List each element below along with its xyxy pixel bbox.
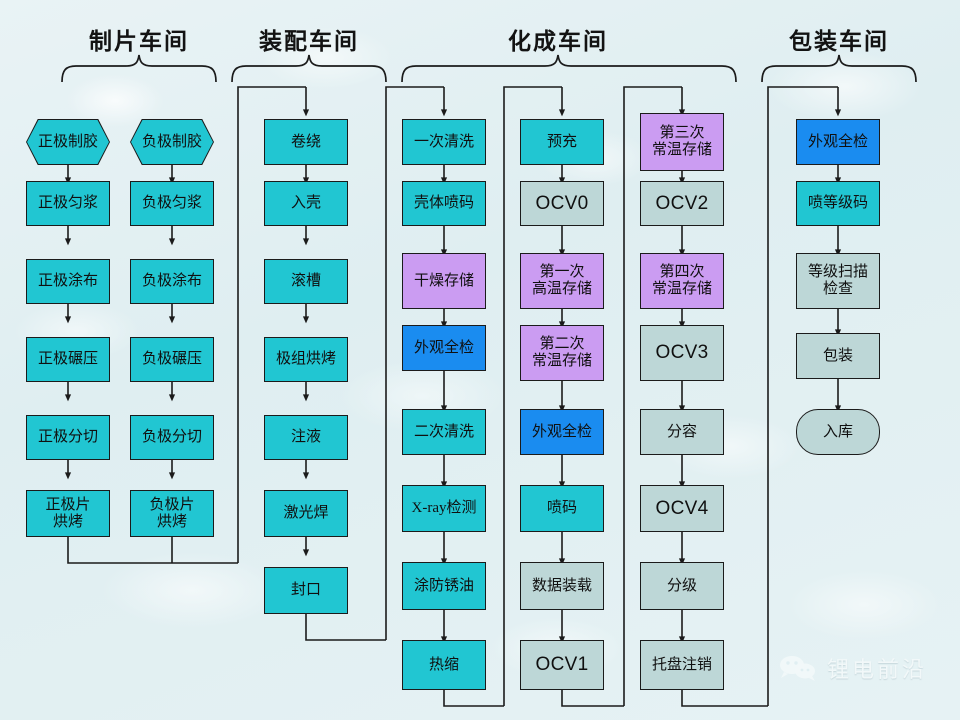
node-tray-cancellation[interactable]: 托盘注销 — [640, 640, 724, 690]
node-label: OCV2 — [656, 193, 709, 214]
node-label: OCV3 — [656, 342, 709, 363]
node-positive-sheet-baking[interactable]: 正极片 烘烤 — [26, 490, 110, 537]
node-second-room-temp-storage[interactable]: 第二次 常温存储 — [520, 325, 604, 381]
node-electrolyte-filling[interactable]: 注液 — [264, 415, 348, 460]
node-label: 分级 — [667, 578, 697, 595]
node-label: 负极制胶 — [142, 134, 202, 151]
node-label: 卷绕 — [291, 134, 321, 151]
node-appearance-inspection-cleaning[interactable]: 外观全检 — [402, 325, 486, 371]
node-label: 壳体喷码 — [414, 195, 474, 212]
node-label: 一次清洗 — [414, 134, 474, 151]
node-label: 托盘注销 — [652, 657, 712, 674]
node-coding[interactable]: 喷码 — [520, 485, 604, 532]
node-appearance-inspection-formation[interactable]: 外观全检 — [520, 409, 604, 455]
node-ocv0[interactable]: OCV0 — [520, 181, 604, 226]
node-label: 外观全检 — [808, 134, 868, 151]
section-title-4: 包装车间 — [779, 22, 899, 56]
node-dry-storage[interactable]: 干燥存储 — [402, 253, 486, 309]
node-sealing[interactable]: 封口 — [264, 567, 348, 614]
node-warehousing[interactable]: 入库 — [796, 409, 880, 455]
node-positive-rolling[interactable]: 正极碾压 — [26, 337, 110, 382]
node-classification[interactable]: 分级 — [640, 562, 724, 610]
node-shell-coding[interactable]: 壳体喷码 — [402, 181, 486, 226]
node-label: 入壳 — [291, 195, 321, 212]
node-label: 正极涂布 — [38, 273, 98, 290]
node-label: 正极匀浆 — [38, 195, 98, 212]
node-label: 预充 — [547, 134, 577, 151]
node-label: OCV0 — [536, 193, 589, 214]
node-label: 入库 — [823, 424, 853, 441]
node-label: 喷码 — [547, 500, 577, 517]
node-label: 封口 — [291, 582, 321, 599]
section-title-2: 装配车间 — [249, 22, 369, 56]
node-label: 第二次 常温存储 — [532, 336, 592, 370]
node-label: 热缩 — [429, 657, 459, 674]
node-label: 分容 — [667, 424, 697, 441]
node-packaging[interactable]: 包装 — [796, 333, 880, 379]
node-label: 二次清洗 — [414, 424, 474, 441]
node-ocv1[interactable]: OCV1 — [520, 640, 604, 690]
node-label: 外观全检 — [414, 340, 474, 357]
node-grade-code-spray[interactable]: 喷等级码 — [796, 181, 880, 226]
node-label: 正极分切 — [38, 429, 98, 446]
node-winding[interactable]: 卷绕 — [264, 119, 348, 165]
node-negative-sheet-baking[interactable]: 负极片 烘烤 — [130, 490, 214, 537]
node-fourth-room-temp-storage[interactable]: 第四次 常温存储 — [640, 253, 724, 309]
node-third-room-temp-storage[interactable]: 第三次 常温存储 — [640, 113, 724, 171]
node-label: OCV4 — [656, 498, 709, 519]
node-label: 正极制胶 — [38, 134, 98, 151]
node-negative-glue[interactable]: 负极制胶 — [130, 119, 214, 165]
node-second-cleaning[interactable]: 二次清洗 — [402, 409, 486, 455]
node-data-loading[interactable]: 数据装载 — [520, 562, 604, 610]
node-grooving[interactable]: 滚槽 — [264, 259, 348, 304]
node-label: 负极匀浆 — [142, 195, 202, 212]
node-grade-scan-check[interactable]: 等级扫描 检查 — [796, 253, 880, 309]
node-label: 正极碾压 — [38, 351, 98, 368]
node-label: 注液 — [291, 429, 321, 446]
node-shell-insertion[interactable]: 入壳 — [264, 181, 348, 226]
node-label: 等级扫描 检查 — [808, 264, 868, 298]
node-label: 负极片 烘烤 — [149, 497, 194, 531]
node-label: 正极片 烘烤 — [45, 497, 90, 531]
node-label: OCV1 — [536, 654, 589, 675]
section-title-3: 化成车间 — [498, 22, 618, 56]
node-label: 负极分切 — [142, 429, 202, 446]
node-appearance-inspection-packaging[interactable]: 外观全检 — [796, 119, 880, 165]
node-positive-slitting[interactable]: 正极分切 — [26, 415, 110, 460]
node-precharge[interactable]: 预充 — [520, 119, 604, 165]
node-negative-slurry[interactable]: 负极匀浆 — [130, 181, 214, 226]
node-negative-rolling[interactable]: 负极碾压 — [130, 337, 214, 382]
node-positive-glue[interactable]: 正极制胶 — [26, 119, 110, 165]
node-anti-rust-oil[interactable]: 涂防锈油 — [402, 562, 486, 610]
node-label: 第三次 常温存储 — [652, 125, 712, 159]
node-positive-coating[interactable]: 正极涂布 — [26, 259, 110, 304]
node-label: X-ray检测 — [412, 500, 477, 517]
node-laser-welding[interactable]: 激光焊 — [264, 490, 348, 537]
node-ocv4[interactable]: OCV4 — [640, 485, 724, 532]
node-label: 激光焊 — [283, 505, 328, 522]
node-label: 滚槽 — [291, 273, 321, 290]
node-label: 负极涂布 — [142, 273, 202, 290]
node-label: 第一次 高温存储 — [532, 264, 592, 298]
node-heat-shrink[interactable]: 热缩 — [402, 640, 486, 690]
node-negative-coating[interactable]: 负极涂布 — [130, 259, 214, 304]
section-title-1: 制片车间 — [79, 22, 199, 56]
node-cell-baking[interactable]: 极组烘烤 — [264, 337, 348, 382]
node-ocv3[interactable]: OCV3 — [640, 325, 724, 381]
node-label: 喷等级码 — [808, 195, 868, 212]
node-label: 第四次 常温存储 — [652, 264, 712, 298]
node-negative-slitting[interactable]: 负极分切 — [130, 415, 214, 460]
node-xray-inspection[interactable]: X-ray检测 — [402, 485, 486, 532]
node-label: 涂防锈油 — [414, 578, 474, 595]
node-first-high-temp-storage[interactable]: 第一次 高温存储 — [520, 253, 604, 309]
node-ocv2[interactable]: OCV2 — [640, 181, 724, 226]
node-label: 数据装载 — [532, 578, 592, 595]
node-label: 负极碾压 — [142, 351, 202, 368]
node-positive-slurry[interactable]: 正极匀浆 — [26, 181, 110, 226]
node-label: 外观全检 — [532, 424, 592, 441]
node-capacity-grading[interactable]: 分容 — [640, 409, 724, 455]
node-first-cleaning[interactable]: 一次清洗 — [402, 119, 486, 165]
node-label: 包装 — [823, 348, 853, 365]
node-label: 极组烘烤 — [276, 351, 336, 368]
node-label: 干燥存储 — [414, 273, 474, 290]
